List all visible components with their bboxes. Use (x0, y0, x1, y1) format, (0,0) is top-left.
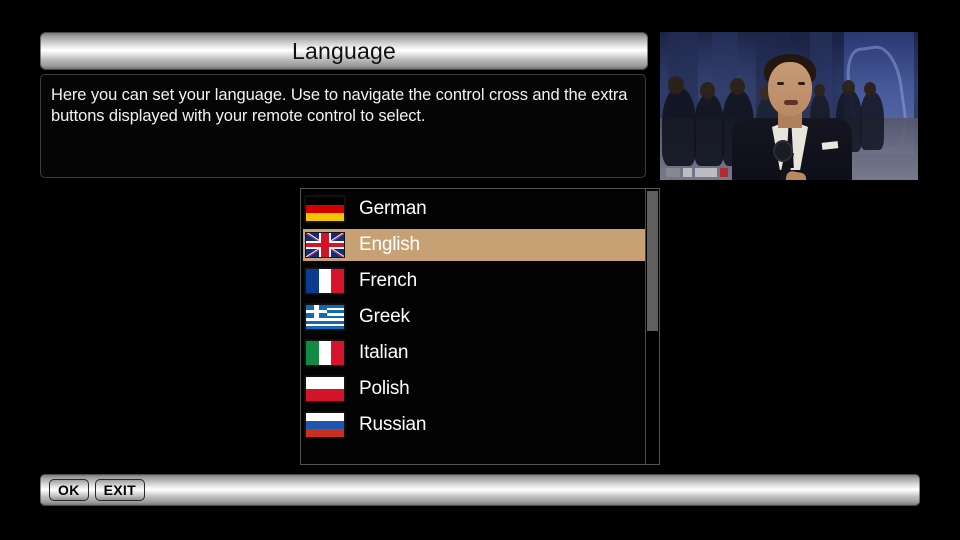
language-item-label: Italian (359, 342, 408, 364)
language-item-label: German (359, 198, 426, 220)
language-item-greek[interactable]: Greek (303, 301, 645, 333)
page-title: Language (292, 38, 396, 65)
preview-crowd-head (668, 76, 684, 94)
language-item-french[interactable]: French (303, 265, 645, 297)
language-list: German English French (303, 193, 645, 445)
preview-crowd-person (694, 94, 724, 166)
exit-button[interactable]: EXIT (95, 479, 145, 501)
language-list-scrollbar[interactable] (645, 189, 659, 464)
preview-crowd-person (662, 88, 696, 166)
language-item-label: French (359, 270, 417, 292)
microphone-icon (773, 140, 793, 162)
flag-france-icon (305, 268, 345, 294)
language-item-german[interactable]: German (303, 193, 645, 225)
language-item-label: Greek (359, 306, 410, 328)
preview-reporter-eye (798, 82, 805, 85)
video-preview[interactable] (660, 32, 918, 180)
flag-italy-icon (305, 340, 345, 366)
description-text: Here you can set your language. Use to n… (51, 85, 635, 127)
language-item-label: Russian (359, 414, 426, 436)
preview-crowd-head (864, 82, 876, 96)
preview-reporter-eye (777, 82, 784, 85)
language-item-italian[interactable]: Italian (303, 337, 645, 369)
description-panel: Here you can set your language. Use to n… (40, 74, 646, 178)
flag-germany-icon (305, 196, 345, 222)
preview-crowd-head (700, 82, 715, 99)
language-item-english[interactable]: English (303, 229, 645, 261)
channel-watermark (666, 168, 728, 177)
preview-crowd-head (730, 78, 745, 95)
preview-crowd-head (842, 80, 855, 95)
preview-crowd-head (814, 84, 825, 97)
language-item-polish[interactable]: Polish (303, 373, 645, 405)
preview-reporter-face (768, 62, 812, 116)
ok-button[interactable]: OK (49, 479, 89, 501)
language-item-label: English (359, 234, 420, 256)
preview-reporter-mouth (784, 100, 798, 105)
softkey-bar: OK EXIT (40, 474, 920, 506)
flag-greece-icon (305, 304, 345, 330)
scrollbar-thumb[interactable] (647, 191, 658, 331)
title-bar: Language (40, 32, 648, 70)
flag-poland-icon (305, 376, 345, 402)
language-item-label: Polish (359, 378, 410, 400)
flag-united-kingdom-icon (305, 232, 345, 258)
tv-osd-screen: Language Here you can set your language.… (0, 0, 960, 540)
flag-russia-icon (305, 412, 345, 438)
preview-crowd-person (860, 92, 884, 150)
language-list-panel[interactable]: German English French (300, 188, 660, 465)
language-item-russian[interactable]: Russian (303, 409, 645, 441)
